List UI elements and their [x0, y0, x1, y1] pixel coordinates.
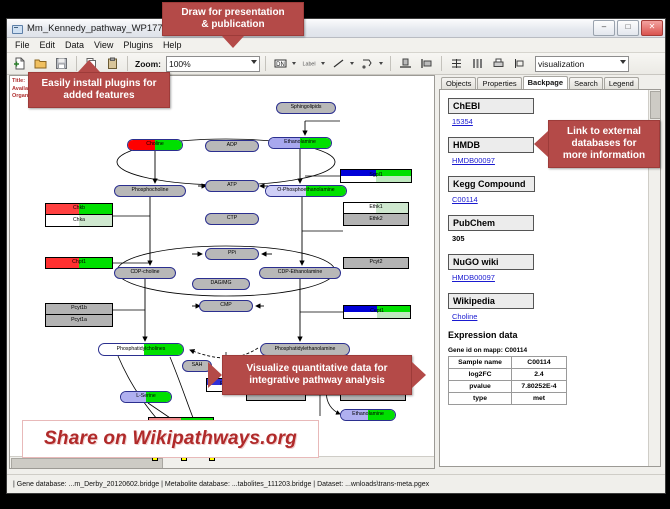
node-label: DAG/MG	[210, 281, 231, 286]
callout-visualize-arrow-right	[412, 362, 426, 388]
node-label: Pcyt2	[370, 260, 383, 265]
node-atp[interactable]: ATP	[205, 180, 259, 192]
distribute-icon[interactable]	[468, 54, 487, 73]
chevron-down-icon-2	[620, 60, 626, 64]
node-label: CDP-Ethanolamine	[278, 270, 322, 275]
node-sgpl1[interactable]: Sgpl1	[340, 169, 412, 183]
node-label: Pcyt1a	[71, 318, 87, 323]
share-text: Share on Wikipathways.org	[44, 428, 297, 450]
stack-icon[interactable]	[447, 54, 466, 73]
node-pcyt1a[interactable]: Pcyt1a	[45, 315, 113, 327]
node-cdp-ethanolamine[interactable]: CDP-Ethanolamine	[259, 267, 341, 279]
node-label: Choline	[146, 142, 164, 147]
toolbar-separator-5	[441, 56, 442, 71]
expression-data-title: Expression data	[448, 330, 652, 340]
table-cell-value: 7.80252E-4	[512, 381, 567, 393]
minimize-button[interactable]: –	[593, 20, 615, 36]
db-header-wikipedia: Wikipedia	[448, 293, 534, 309]
table-cell-key: type	[449, 393, 512, 405]
node-label: Sphingolipids	[291, 105, 322, 110]
db-header-chebi: ChEBI	[448, 98, 534, 114]
canvas-hscroll-thumb[interactable]	[11, 458, 163, 469]
table-row: Sample name C00114	[449, 357, 567, 369]
menu-plugins[interactable]: Plugins	[118, 39, 158, 52]
table-cell-key: log2FC	[449, 369, 512, 381]
maximize-button[interactable]: □	[617, 20, 639, 36]
callout-share: Share on Wikipathways.org	[22, 420, 319, 458]
node-label: Pcyt1b	[71, 306, 87, 311]
backpage-vscroll-thumb[interactable]	[650, 91, 661, 119]
line-icon[interactable]	[329, 54, 348, 73]
menu-data[interactable]: Data	[60, 39, 89, 52]
node-label: PPi	[228, 251, 236, 256]
node-choline-top[interactable]: Choline	[127, 139, 183, 151]
node-cmp[interactable]: CMP	[199, 300, 253, 312]
menu-edit[interactable]: Edit	[35, 39, 61, 52]
node-dag-mg[interactable]: DAG/MG	[192, 278, 250, 290]
callout-plugins-arrow	[78, 60, 100, 72]
node-label: Ethk1	[369, 205, 382, 210]
menu-help[interactable]: Help	[158, 39, 187, 52]
toolbar-separator-3	[265, 56, 266, 71]
order-icon[interactable]	[510, 54, 529, 73]
node-chka[interactable]: Chka	[45, 215, 113, 227]
db-header-kegg: Kegg Compound	[448, 176, 535, 192]
node-label: Phosphatidylcholines	[117, 347, 166, 352]
db-link-nugo[interactable]: HMDB00097	[452, 273, 652, 282]
visualization-combo[interactable]: visualization	[535, 56, 629, 72]
table-row: type met	[449, 393, 567, 405]
pathway-canvas[interactable]: Title: Availa Organi	[9, 75, 435, 469]
title-bar: Mm_Kennedy_pathway_WP1771_45176.gpml – □…	[7, 19, 665, 38]
toolbar-separator-4	[390, 56, 391, 71]
node-cdp-choline[interactable]: CDP-choline	[114, 267, 176, 279]
zoom-combo[interactable]: 100%	[166, 56, 260, 72]
align-left-icon[interactable]	[417, 54, 436, 73]
save-icon[interactable]	[52, 54, 71, 73]
callout-draw: Draw for presentation & publication	[162, 2, 304, 36]
db-link-wikipedia[interactable]: Choline	[452, 312, 652, 321]
node-label: Chpt1	[72, 260, 86, 265]
tab-objects[interactable]: Objects	[441, 77, 476, 89]
open-icon[interactable]	[31, 54, 50, 73]
zoom-value: 100%	[169, 59, 191, 69]
node-phosphocholine[interactable]: Phosphocholine	[114, 185, 186, 197]
menu-view[interactable]: View	[89, 39, 118, 52]
node-label: CMP	[220, 303, 232, 308]
callout-plugins: Easily install plugins for added feature…	[28, 72, 170, 108]
node-chpt1[interactable]: Chpt1	[45, 257, 113, 269]
callout-visualize: Visualize quantitative data for integrat…	[222, 355, 412, 395]
node-ethanolamine[interactable]: Ethanolamine	[268, 137, 332, 149]
pathway-drawing[interactable]: Title: Availa Organi	[10, 76, 432, 469]
node-o-phosphoethanolamine[interactable]: O-Phosphoethanolamine	[265, 185, 347, 197]
node-ethk1[interactable]: Ethk1	[343, 202, 409, 214]
table-cell-value: 2.4	[512, 369, 567, 381]
svg-text:Label: Label	[302, 62, 315, 68]
node-label: Phosphocholine	[132, 188, 169, 193]
label-icon[interactable]: Label	[300, 54, 319, 73]
node-sphingolipids[interactable]: Sphingolipids	[276, 102, 336, 114]
print-icon[interactable]	[489, 54, 508, 73]
tab-legend[interactable]: Legend	[604, 77, 639, 89]
zoom-label: Zoom:	[135, 59, 161, 69]
tab-properties[interactable]: Properties	[477, 77, 521, 89]
chevron-down-icon	[251, 60, 257, 64]
callout-visualize-arrow-left	[208, 362, 222, 388]
table-cell-value: C00114	[512, 357, 567, 369]
table-cell-key: pvalue	[449, 381, 512, 393]
node-label: Chka	[73, 218, 85, 223]
svg-text:DN: DN	[276, 62, 285, 68]
node-label: Ethanolamine	[284, 140, 316, 145]
new-icon[interactable]	[10, 54, 29, 73]
label-dropdown-icon[interactable]	[321, 62, 325, 65]
db-header-pubchem: PubChem	[448, 215, 534, 231]
node-label: ADP	[227, 143, 238, 148]
node-label: CTP	[227, 216, 237, 221]
screen: Mm_Kennedy_pathway_WP1771_45176.gpml – □…	[0, 0, 670, 509]
db-header-nugo: NuGO wiki	[448, 254, 534, 270]
node-pcyt1b[interactable]: Pcyt1b	[45, 303, 113, 315]
datanode-dropdown-icon[interactable]	[292, 62, 296, 65]
table-cell-value: met	[512, 393, 567, 405]
callout-draw-arrow	[222, 36, 244, 48]
side-panel-tabs: Objects Properties Backpage Search Legen…	[437, 75, 663, 89]
node-ctp[interactable]: CTP	[205, 213, 259, 225]
node-label: ATP	[227, 183, 237, 188]
app-icon	[11, 23, 22, 34]
gene-id-label: Gene id on mapp: C00114	[448, 347, 652, 354]
menu-bar: File Edit Data View Plugins Help	[7, 38, 665, 53]
window-controls[interactable]: – □ ✕	[593, 20, 663, 36]
callout-links: Link to external databases for more info…	[548, 120, 660, 168]
node-ethanolamine-bottom[interactable]: Ethanolamine	[340, 409, 396, 421]
node-chkb[interactable]: Chkb	[45, 203, 113, 215]
tab-search[interactable]: Search	[569, 77, 603, 89]
node-ppi[interactable]: PPi	[205, 248, 259, 260]
node-label: Chkb	[73, 206, 85, 211]
node-ethk2[interactable]: Ethk2	[343, 214, 409, 226]
node-pcyt2[interactable]: Pcyt2	[343, 257, 409, 269]
close-button[interactable]: ✕	[641, 20, 663, 36]
node-cept1[interactable]: Cept1	[343, 305, 411, 319]
status-bar: | Gene database: ...m_Derby_20120602.bri…	[7, 474, 665, 493]
db-value-pubchem: 305	[452, 234, 652, 243]
db-link-kegg[interactable]: C00114	[452, 195, 652, 204]
node-adp[interactable]: ADP	[205, 140, 259, 152]
table-cell-key: Sample name	[449, 357, 512, 369]
tab-backpage[interactable]: Backpage	[523, 76, 568, 89]
visualization-value: visualization	[538, 59, 584, 69]
paste-icon[interactable]	[103, 54, 122, 73]
anchor-dropdown-icon[interactable]	[379, 62, 383, 65]
node-label: L-Serine	[136, 394, 156, 399]
table-row: pvalue 7.80252E-4	[449, 381, 567, 393]
line-dropdown-icon[interactable]	[350, 62, 354, 65]
expression-table: Sample name C00114 log2FC 2.4 pvalue 7.8…	[448, 356, 567, 405]
toolbar-separator	[76, 56, 77, 71]
table-row: log2FC 2.4	[449, 369, 567, 381]
menu-file[interactable]: File	[10, 39, 35, 52]
node-label: SAH	[192, 363, 203, 368]
node-label: Ethanolamine	[352, 412, 384, 417]
align-bottom-icon[interactable]	[396, 54, 415, 73]
node-label: Phosphatidylethanolamine	[275, 347, 336, 352]
anchor-icon[interactable]	[358, 54, 377, 73]
node-label: O-Phosphoethanolamine	[277, 188, 334, 193]
toolbar-separator-2	[127, 56, 128, 71]
datanode-icon[interactable]: DN	[271, 54, 290, 73]
callout-links-arrow	[534, 131, 548, 157]
node-label: Cept1	[370, 309, 384, 314]
status-text: | Gene database: ...m_Derby_20120602.bri…	[7, 481, 429, 488]
db-header-hmdb: HMDB	[448, 137, 534, 153]
node-phosphatidylcholines[interactable]: Phosphatidylcholines	[98, 343, 184, 356]
node-label: Ethk2	[369, 217, 382, 222]
node-l-serine-left[interactable]: L-Serine	[120, 391, 172, 403]
node-label: Sgpl1	[369, 173, 382, 178]
node-label: CDP-choline	[130, 270, 159, 275]
